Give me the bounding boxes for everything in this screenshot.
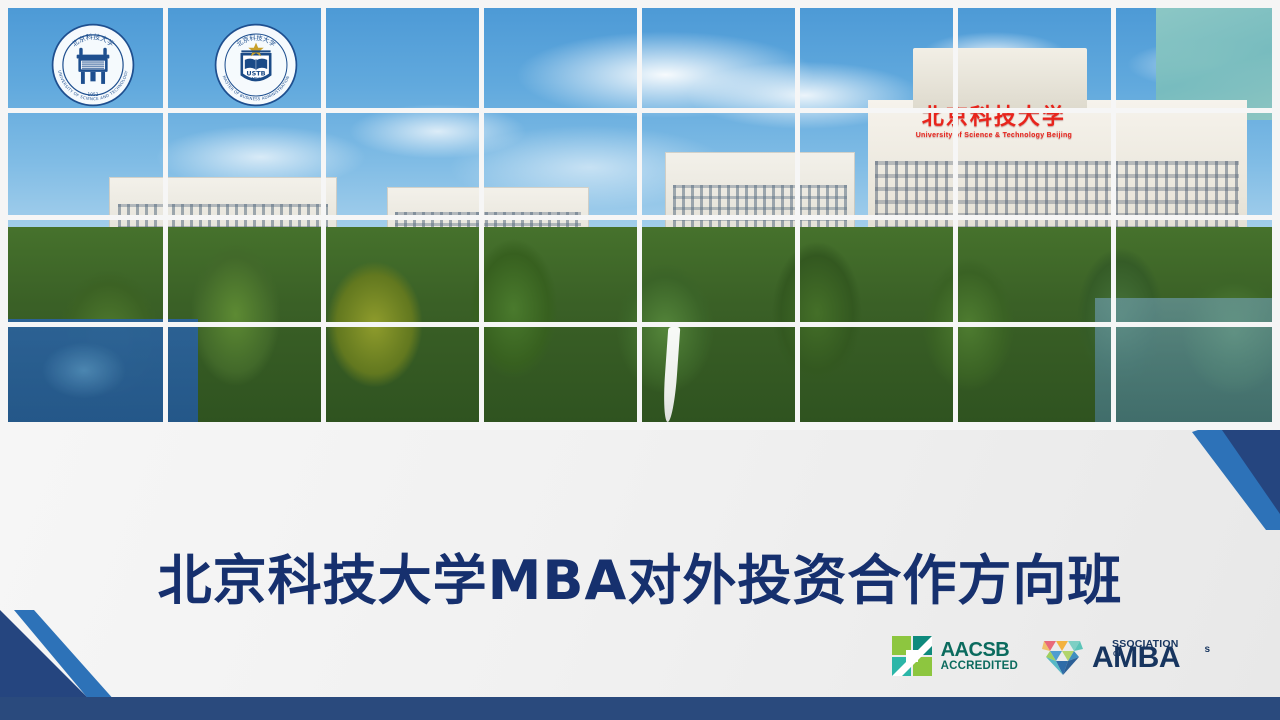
amba-plural-text: s (1204, 645, 1210, 655)
aacsb-line1: AACSB (941, 640, 1018, 660)
amba-diamond-icon (1040, 635, 1086, 677)
title-panel: 北京科技大学MBA对外投资合作方向班 AACSB ACCREDITED (0, 430, 1280, 720)
accreditation-logos: AACSB ACCREDITED (890, 634, 1210, 678)
corner-decoration-top-right (1160, 430, 1280, 530)
amba-main-text: AMBA (1092, 643, 1180, 673)
ustb-university-seal-emblem: 北京科技大学 UNIVERSITY OF SCIENCE AND TECHNOL… (50, 22, 136, 108)
hero-photo-mosaic: 北京科技大学 University of Science & Technolog… (0, 0, 1280, 430)
tree-canopy-blue-tint (8, 319, 198, 423)
amba-initial: A (1092, 641, 1113, 674)
tree-canopy-right-tint (1095, 298, 1272, 422)
campus-photograph: 北京科技大学 University of Science & Technolog… (8, 8, 1272, 422)
svg-text:· 1952 ·: · 1952 · (85, 92, 101, 98)
building-tower (913, 48, 1087, 113)
tree-canopy (8, 227, 1272, 422)
amba-logo: SSOCIATION OF AMBA s (1040, 635, 1210, 677)
hero-photo-inner: 北京科技大学 University of Science & Technolog… (8, 8, 1272, 422)
amba-word-text: MBA (1113, 641, 1180, 674)
aacsb-mark-icon (890, 634, 934, 678)
presentation-slide: 北京科技大学 University of Science & Technolog… (0, 0, 1280, 720)
page-title: 北京科技大学MBA对外投资合作方向班 (0, 551, 1280, 610)
aacsb-wordmark: AACSB ACCREDITED (941, 640, 1018, 673)
amba-wordmark: SSOCIATION OF AMBA s (1092, 639, 1210, 673)
aacsb-logo: AACSB ACCREDITED (890, 634, 1018, 678)
ustb-mba-seal-emblem: USTB MBA 北京科技大学 MASTER OF BUSINESS ADMIN… (213, 22, 299, 108)
svg-text:MBA: MBA (252, 76, 261, 81)
bottom-accent-bar (0, 697, 1280, 720)
aacsb-line2: ACCREDITED (941, 661, 1018, 673)
